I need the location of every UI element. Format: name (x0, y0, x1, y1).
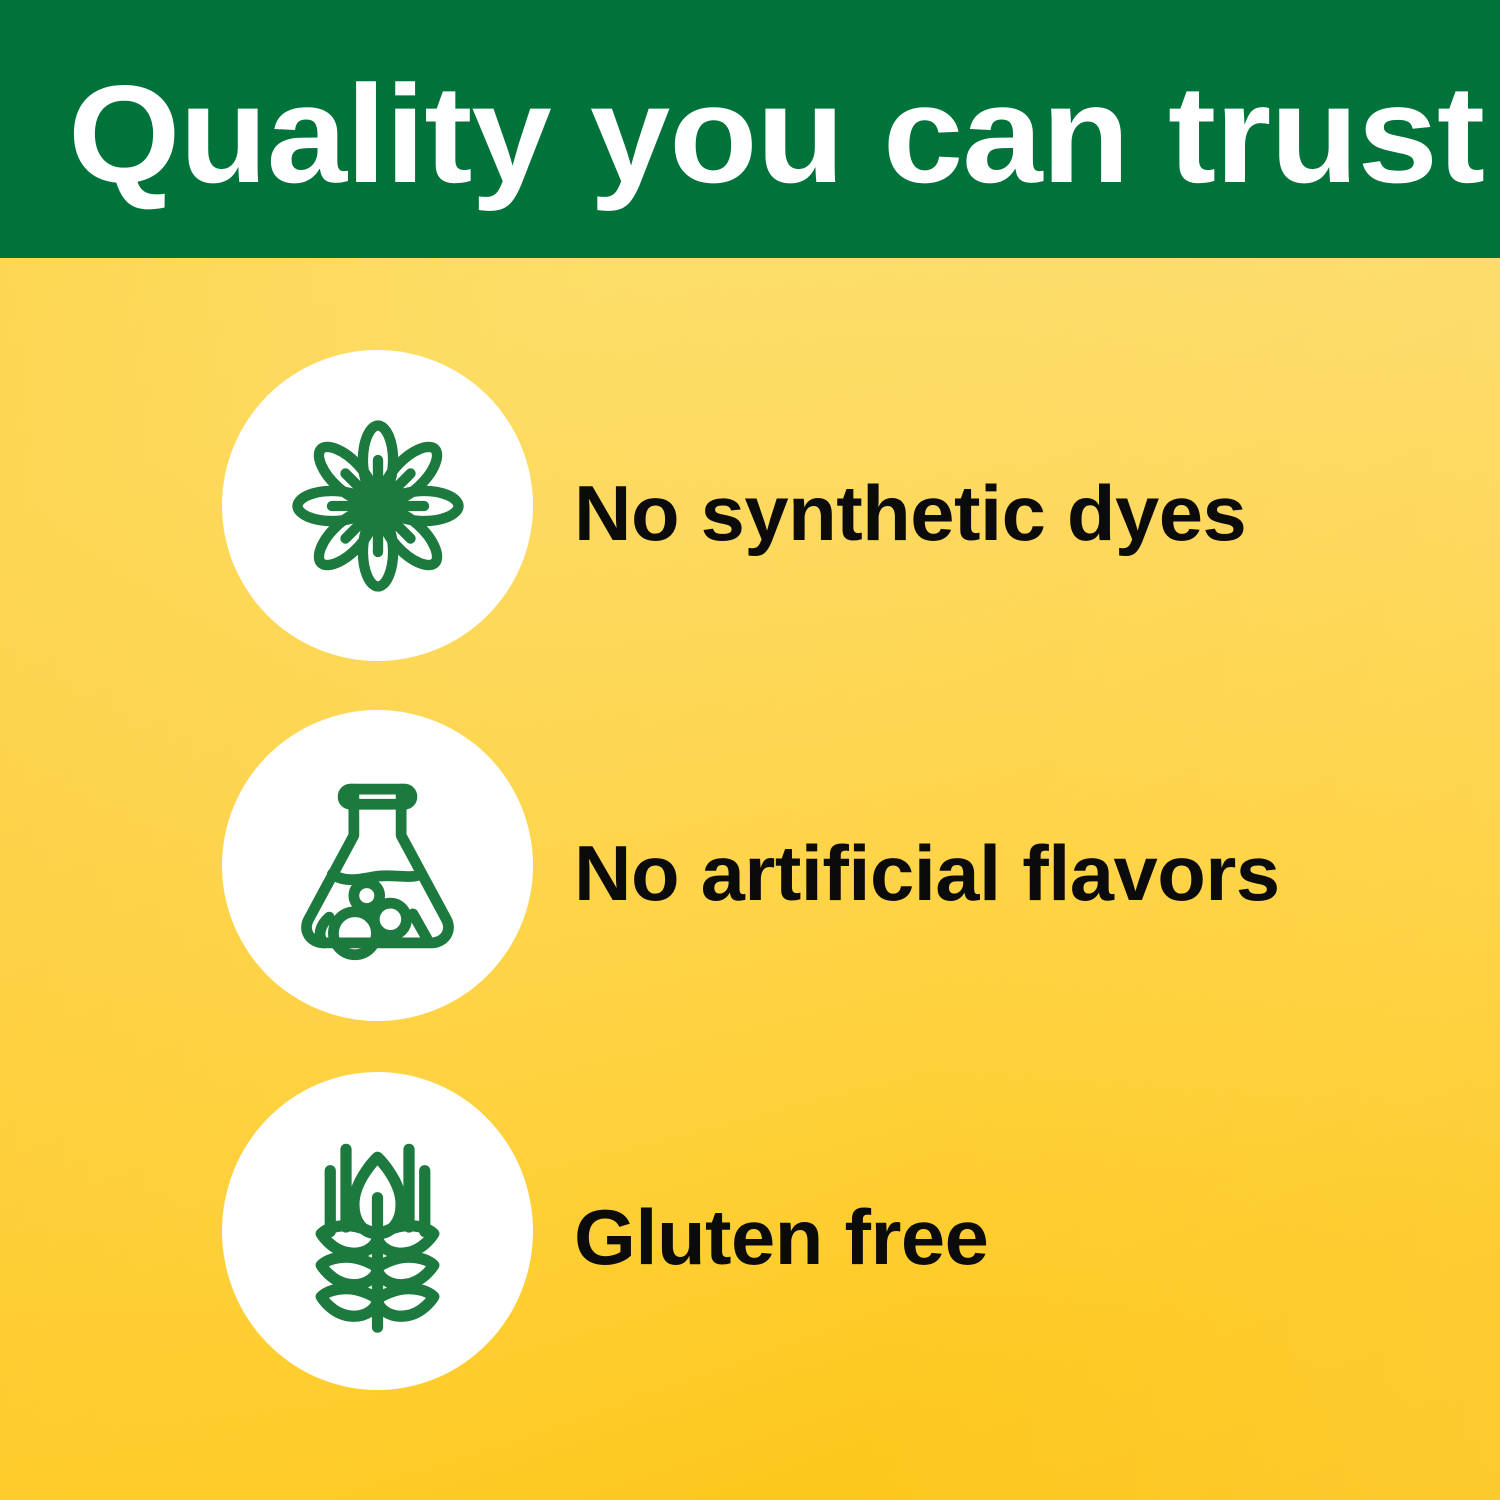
header-band: Quality you can trust (0, 0, 1500, 258)
erlenmeyer-flask-icon (270, 758, 485, 973)
feature-row: Gluten free (0, 1072, 1500, 1390)
feature-label: Gluten free (574, 1192, 988, 1283)
flower-petals-icon (263, 391, 493, 621)
wheat-stalk-icon (265, 1119, 490, 1344)
quality-claims-poster: Quality you can trust (0, 0, 1500, 1500)
feature-row: No artificial flavors (0, 710, 1500, 1021)
feature-label: No artificial flavors (574, 828, 1280, 919)
icon-badge (222, 1072, 533, 1390)
icon-badge (222, 350, 533, 661)
feature-row: No synthetic dyes (0, 350, 1500, 661)
feature-label: No synthetic dyes (574, 468, 1246, 559)
icon-badge (222, 710, 533, 1021)
page-title: Quality you can trust (68, 50, 1500, 220)
